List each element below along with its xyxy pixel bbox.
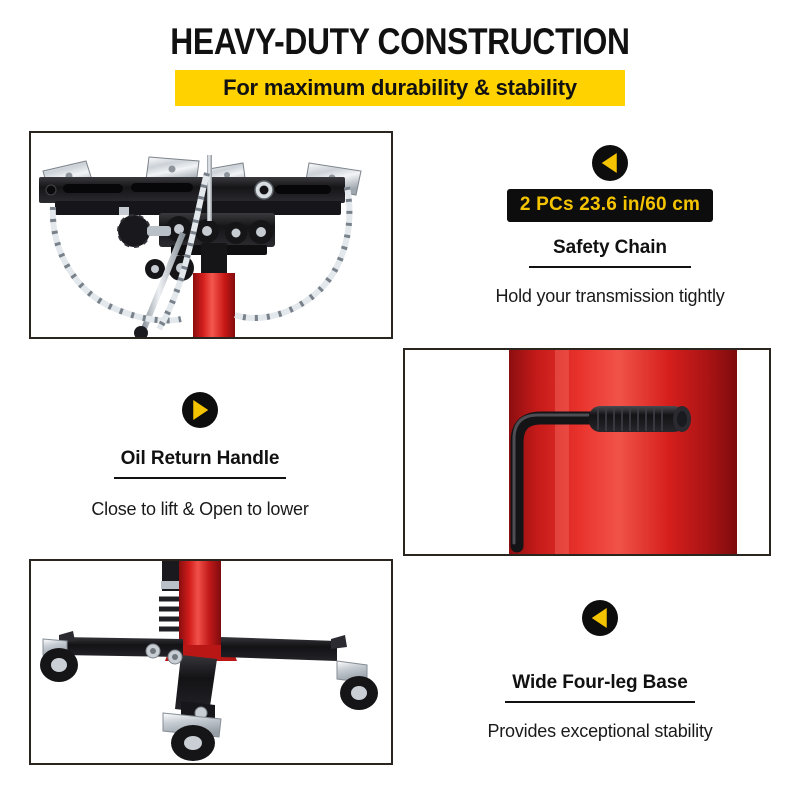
triangle-left-icon (582, 600, 618, 636)
caster-right (337, 661, 378, 710)
leg-right-rear (221, 637, 337, 661)
callout-oil-return-handle: Oil Return Handle Close to lift & Open t… (0, 392, 400, 520)
callout-wide-four-leg-base: Wide Four-leg Base Provides exceptional … (400, 600, 800, 742)
callout-description-oil-return-handle: Close to lift & Open to lower (0, 499, 400, 520)
handle-illustration (405, 350, 769, 554)
triangle-left-icon (592, 145, 628, 181)
callout-safety-chain: 2 PCs 23.6 in/60 cm Safety Chain Hold yo… (420, 145, 800, 307)
handle-grip (589, 406, 691, 432)
base-photo (31, 561, 391, 763)
caster-front (163, 713, 221, 761)
red-cylinder (509, 350, 737, 554)
callout-title-oil-return-handle: Oil Return Handle (0, 448, 400, 470)
upper-crossbar (39, 177, 345, 203)
leg-left-rear (59, 637, 183, 657)
title-divider (114, 477, 286, 479)
header: HEAVY-DUTY CONSTRUCTION For maximum dura… (0, 0, 800, 120)
callout-title-safety-chain: Safety Chain (420, 237, 800, 259)
title-divider (505, 701, 695, 703)
saddle-photo (31, 133, 391, 337)
status-badge: 2 PCs 23.6 in/60 cm (507, 189, 713, 222)
callout-description-wide-four-leg-base: Provides exceptional stability (400, 721, 800, 742)
spec-badge-wrapper: 2 PCs 23.6 in/60 cm (420, 189, 800, 222)
callout-description-safety-chain: Hold your transmission tightly (420, 286, 800, 307)
base-photo-panel (29, 559, 393, 765)
handle-photo-panel (403, 348, 771, 556)
saddle-illustration (31, 133, 391, 337)
subtitle-text: For maximum durability & stability (223, 75, 577, 101)
hydraulic-ram (193, 243, 235, 337)
subtitle-banner: For maximum durability & stability (175, 70, 625, 106)
page-title: HEAVY-DUTY CONSTRUCTION (56, 21, 744, 63)
handle-photo (405, 350, 769, 554)
saddle-photo-panel (29, 131, 393, 339)
base-illustration (31, 561, 391, 763)
callout-title-wide-four-leg-base: Wide Four-leg Base (400, 672, 800, 694)
triangle-right-icon (182, 392, 218, 428)
title-divider (529, 266, 691, 268)
red-column (179, 561, 221, 653)
